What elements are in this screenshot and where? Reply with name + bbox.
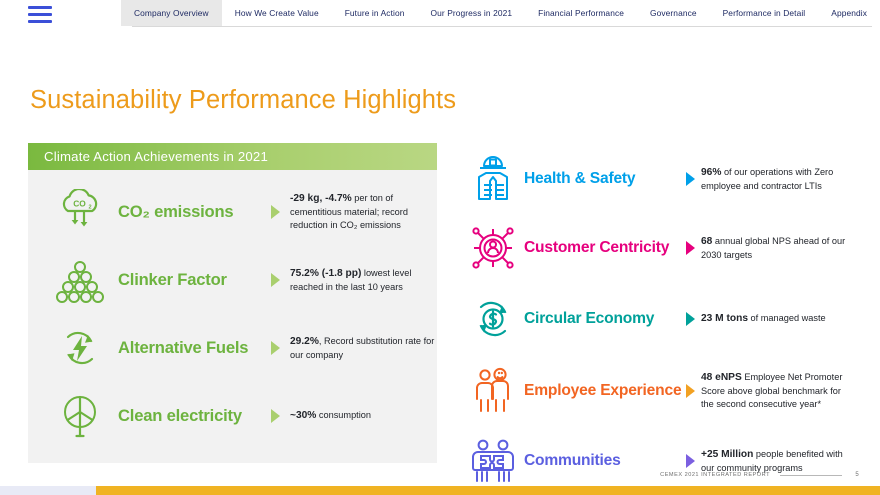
chevron-right-icon [682,383,698,399]
chevron-right-icon [682,171,698,187]
footer: CEMEX 2021 INTEGRATED REPORT 5 [0,468,880,482]
clinker-spheres-icon [42,257,118,303]
hamburger-icon[interactable] [28,0,58,26]
list-item-label: Clinker Factor [118,271,270,288]
chevron-right-icon [682,240,698,256]
list-item[interactable]: Circular Economy 23 M tons of managed wa… [462,288,866,350]
list-item-label: Alternative Fuels [118,339,270,356]
list-item-metric: 96% [701,167,721,178]
list-item-detail: consumption [316,410,371,420]
page-title: Sustainability Performance Highlights [30,86,456,115]
customer-target-icon [462,224,524,272]
circular-dollar-icon [462,296,524,342]
list-item-label: Circular Economy [524,311,682,328]
chevron-right-icon [270,408,286,424]
tab-performance-in-detail[interactable]: Performance in Detail [710,0,819,26]
wind-turbine-icon [42,391,118,441]
list-item-metric: +25 Million [701,449,753,460]
list-item[interactable]: Customer Centricity 68 annual global NPS… [462,214,866,282]
list-item-text: 23 M tons of managed waste [698,312,826,326]
list-item-label: Customer Centricity [524,240,682,257]
nav-spacer [58,0,121,26]
footer-rule [780,475,842,476]
two-people-icon [462,367,524,415]
list-item-label: Health & Safety [524,171,682,188]
list-item[interactable]: Clean electricity ~30% consumption [28,382,437,450]
list-item[interactable]: Health & Safety 96% of our operations wi… [462,150,866,208]
safety-vest-helmet-icon [462,155,524,203]
list-item-label: CO₂ emissions [118,203,270,220]
tab-label: Appendix [831,8,867,18]
svg-text:CO: CO [73,199,86,209]
list-item-text: 75.2% (-1.8 pp) lowest level reached in … [286,267,437,294]
page-number: 5 [852,472,862,478]
tab-future-in-action[interactable]: Future in Action [332,0,418,26]
tab-label: Financial Performance [538,8,624,18]
panel-body: CO 2 CO₂ emissions -29 kg, -4.7% per ton… [28,170,437,463]
list-item-text: ~30% consumption [286,409,371,423]
tab-label: Future in Action [345,8,405,18]
list-item-text: 68 annual global NPS ahead of our 2030 t… [698,235,848,262]
chevron-right-icon [270,340,286,356]
list-item-label: Clean electricity [118,407,270,424]
nav-divider [132,26,872,27]
list-item-text: 48 eNPS Employee Net Promoter Score abov… [698,371,848,410]
tab-how-we-create-value[interactable]: How We Create Value [222,0,332,26]
recycle-bolt-icon [42,325,118,371]
list-item-metric: 48 eNPS [701,372,742,383]
slide-page: Company Overview How We Create Value Fut… [0,0,880,495]
list-item-metric: 75.2% (-1.8 pp) [290,268,361,279]
list-item[interactable]: Alternative Fuels 29.2%, Record substitu… [28,314,437,382]
bottom-accent-bar [0,486,880,495]
list-item-metric: 23 M tons [701,313,748,324]
tab-label: Our Progress in 2021 [431,8,513,18]
chevron-right-icon [682,311,698,327]
list-item-text: -29 kg, -4.7% per ton of cementitious ma… [286,192,437,231]
list-item-text: 96% of our operations with Zero employee… [698,166,848,193]
nav-tab-list: Company Overview How We Create Value Fut… [121,0,880,26]
list-item[interactable]: Employee Experience 48 eNPS Employee Net… [462,356,866,426]
tab-label: How We Create Value [235,8,319,18]
svg-text:2: 2 [89,205,92,211]
tab-label: Performance in Detail [723,8,806,18]
panel-header: Climate Action Achievements in 2021 [28,143,437,170]
chevron-right-icon [270,272,286,288]
list-item-detail: of managed waste [748,313,826,323]
bottom-accent-segment [0,486,96,495]
list-item-metric: 29.2% [290,336,319,347]
list-item-detail: of our operations with Zero employee and… [701,167,833,191]
list-item-detail: annual global NPS ahead of our 2030 targ… [701,236,845,260]
list-item[interactable]: Clinker Factor 75.2% (-1.8 pp) lowest le… [28,246,437,314]
list-item-metric: 68 [701,236,712,247]
list-item-label: Employee Experience [524,383,682,400]
footer-note: CEMEX 2021 INTEGRATED REPORT [660,472,770,478]
co2-cloud-icon: CO 2 [42,189,118,235]
list-item[interactable]: CO 2 CO₂ emissions -29 kg, -4.7% per ton… [28,178,437,246]
tab-company-overview[interactable]: Company Overview [121,0,222,26]
tab-our-progress-in-2021[interactable]: Our Progress in 2021 [418,0,526,26]
tab-financial-performance[interactable]: Financial Performance [525,0,637,26]
tab-label: Governance [650,8,697,18]
top-navigation: Company Overview How We Create Value Fut… [0,0,880,26]
list-item-metric: ~30% [290,410,316,421]
list-item-text: 29.2%, Record substitution rate for our … [286,335,437,362]
panel-header-label: Climate Action Achievements in 2021 [44,149,268,164]
climate-action-panel: Climate Action Achievements in 2021 CO 2 [28,143,437,463]
chevron-right-icon [270,204,286,220]
tab-governance[interactable]: Governance [637,0,710,26]
list-item-label: Communities [524,453,682,470]
tab-label: Company Overview [134,8,209,18]
list-item-metric: -29 kg, -4.7% [290,193,352,204]
chevron-right-icon [682,453,698,469]
tab-appendix[interactable]: Appendix [818,0,880,26]
highlights-column: Health & Safety 96% of our operations wi… [462,150,866,495]
